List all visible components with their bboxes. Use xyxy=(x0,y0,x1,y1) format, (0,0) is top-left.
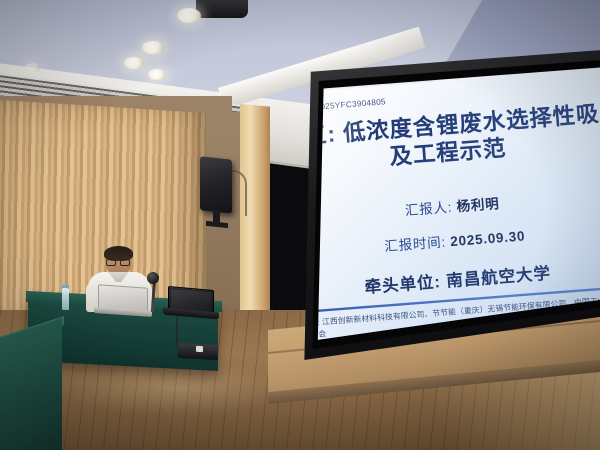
wall-speaker-icon xyxy=(200,156,232,213)
presenter-label: 汇报人: xyxy=(405,201,453,219)
downlight-icon xyxy=(177,8,201,23)
downlight-icon xyxy=(25,63,40,72)
water-bottle xyxy=(62,288,69,310)
downlight-icon xyxy=(124,57,144,69)
lead-org-value: 南昌航空大学 xyxy=(446,263,552,290)
project-number: 课题编号: 2025YFC3904805 xyxy=(282,96,386,116)
av-equipment-indicator xyxy=(196,346,203,352)
lcd-display[interactable]: 南 Nanchang Hangkong University 正常演示 信号源 … xyxy=(282,50,600,360)
project-number-label: 课题编号: xyxy=(282,104,313,115)
presenter-glasses xyxy=(120,259,130,266)
project-number-value: 2025YFC3904805 xyxy=(315,98,386,112)
university-logo: 南 xyxy=(468,50,528,55)
conference-room-scene: 南 Nanchang Hangkong University 正常演示 信号源 … xyxy=(0,0,600,450)
university-emblem-icon xyxy=(468,50,501,55)
presenter-value: 杨利明 xyxy=(456,197,500,214)
front-table xyxy=(0,318,62,450)
presenter-glasses xyxy=(106,259,116,266)
microphone-icon xyxy=(147,272,159,284)
ceiling-projector-icon xyxy=(196,0,248,18)
lead-org-label: 牵头单位: xyxy=(364,272,442,297)
date-value: 2025.09.30 xyxy=(450,230,526,250)
date-label: 汇报时间: xyxy=(384,236,447,255)
downlight-icon xyxy=(142,41,164,54)
downlight-icon xyxy=(148,69,166,80)
